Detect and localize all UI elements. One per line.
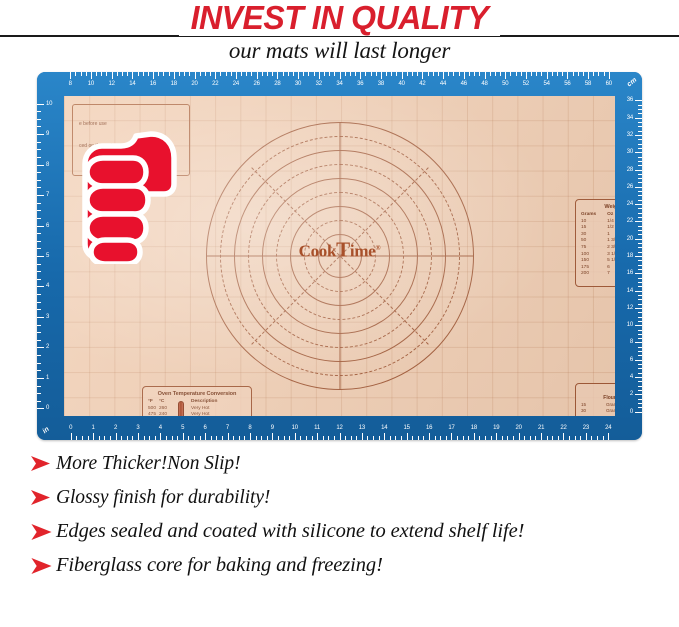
ruler-minor-tick <box>597 436 598 440</box>
ruler-tick <box>635 273 642 274</box>
table-row: 752 3/4 <box>581 245 615 252</box>
ruler-minor-tick <box>638 381 642 382</box>
ruler-minor-tick <box>573 72 574 76</box>
ruler-label: 15 <box>404 425 410 431</box>
ruler-minor-tick <box>638 407 642 408</box>
ruler-minor-tick <box>485 436 486 440</box>
feature-text: Edges sealed and coated with silicone to… <box>56 520 524 543</box>
logo-text-ime: ime <box>350 242 376 261</box>
ruler-label: 8 <box>248 425 251 431</box>
ruler-tick <box>608 433 609 440</box>
ruler-minor-tick <box>155 436 156 440</box>
table-row: 1505 1/2 <box>581 258 615 265</box>
ruler-minor-tick <box>638 247 642 248</box>
ruler-tick <box>70 72 71 79</box>
wc-grams: 150 <box>581 258 607 265</box>
ruler-minor-tick <box>37 149 41 150</box>
ruler-minor-tick <box>356 436 357 440</box>
ruler-minor-tick <box>306 436 307 440</box>
ruler-minor-tick <box>334 436 335 440</box>
ruler-minor-tick <box>536 72 537 76</box>
ruler-minor-tick <box>407 72 408 76</box>
ruler-label: 30 <box>627 149 633 155</box>
ruler-minor-tick <box>638 243 642 244</box>
ruler-label: 20 <box>516 425 522 431</box>
ruler-minor-tick <box>638 260 642 261</box>
ruler-minor-tick <box>371 72 372 76</box>
ruler-label: 21 <box>538 425 544 431</box>
ruler-minor-tick <box>37 111 41 112</box>
ruler-minor-tick <box>293 72 294 76</box>
ruler-minor-tick <box>530 436 531 440</box>
ruler-label: 40 <box>399 81 405 87</box>
ruler-minor-tick <box>184 72 185 76</box>
ruler-minor-tick <box>37 119 41 120</box>
ruler-tick <box>496 433 497 440</box>
ruler-label: 4 <box>46 283 49 289</box>
ruler-minor-tick <box>638 399 642 400</box>
ruler-minor-tick <box>37 332 41 333</box>
ruler-label: 12 <box>109 81 115 87</box>
ruler-minor-tick <box>479 436 480 440</box>
ruler-minor-tick <box>345 72 346 76</box>
ruler-minor-tick <box>453 72 454 76</box>
ruler-minor-tick <box>169 72 170 76</box>
ruler-minor-tick <box>638 230 642 231</box>
ruler-minor-tick <box>583 72 584 76</box>
ruler-label: 6 <box>630 357 633 363</box>
ruler-minor-tick <box>638 109 642 110</box>
ruler-tick <box>635 187 642 188</box>
ruler-label: 7 <box>226 425 229 431</box>
ruler-minor-tick <box>638 252 642 253</box>
ruler-minor-tick <box>457 436 458 440</box>
feature-item: Glossy finish for durability! <box>30 486 670 509</box>
ruler-minor-tick <box>435 436 436 440</box>
ot-header-f: °F <box>148 399 159 406</box>
ruler-tick <box>407 433 408 440</box>
ruler-tick <box>37 256 44 257</box>
ruler-minor-tick <box>521 72 522 76</box>
ruler-minor-tick <box>88 436 89 440</box>
ruler-minor-tick <box>37 126 41 127</box>
ruler-minor-tick <box>251 72 252 76</box>
ruler-tick <box>635 239 642 240</box>
cup-unit: Gram <box>606 415 615 416</box>
thumbs-up-icon <box>77 128 205 264</box>
ruler-minor-tick <box>510 72 511 76</box>
ruler-minor-tick <box>231 72 232 76</box>
ruler-tick <box>236 72 237 79</box>
ruler-minor-tick <box>37 187 41 188</box>
ruler-minor-tick <box>143 72 144 76</box>
ruler-minor-tick <box>267 436 268 440</box>
ruler-tick <box>519 433 520 440</box>
cups-section-1-title: Flour and Icing Sugar <box>581 395 615 401</box>
ruler-minor-tick <box>638 200 642 201</box>
ruler-minor-tick <box>638 157 642 158</box>
header: INVEST IN QUALITY our mats will last lon… <box>0 0 679 70</box>
ruler-minor-tick <box>37 279 41 280</box>
ruler-minor-tick <box>638 139 642 140</box>
ruler-minor-tick <box>82 436 83 440</box>
ruler-minor-tick <box>233 436 234 440</box>
ruler-tick <box>195 72 196 79</box>
ruler-tick <box>567 72 568 79</box>
ruler-tick <box>586 433 587 440</box>
ruler-minor-tick <box>376 72 377 76</box>
ruler-tick <box>37 134 44 135</box>
ruler-minor-tick <box>220 72 221 76</box>
ruler-minor-tick <box>37 142 41 143</box>
ruler-label: 4 <box>630 374 633 380</box>
ruler-minor-tick <box>288 72 289 76</box>
ruler-tick <box>340 72 341 79</box>
ruler-minor-tick <box>37 203 41 204</box>
ruler-minor-tick <box>148 72 149 76</box>
ruler-minor-tick <box>638 351 642 352</box>
ruler-tick <box>526 72 527 79</box>
ruler-minor-tick <box>638 286 642 287</box>
ruler-minor-tick <box>226 72 227 76</box>
ruler-minor-tick <box>578 72 579 76</box>
ruler-tick <box>635 377 642 378</box>
ruler-minor-tick <box>345 436 346 440</box>
ruler-label: 32 <box>316 81 322 87</box>
ruler-label: 26 <box>254 81 260 87</box>
ruler-label: 7 <box>46 192 49 198</box>
ruler-minor-tick <box>110 436 111 440</box>
ruler-minor-tick <box>558 436 559 440</box>
ruler-minor-tick <box>37 218 41 219</box>
ruler-tick <box>635 118 642 119</box>
ruler-tick <box>384 433 385 440</box>
ruler-tick <box>635 360 642 361</box>
ruler-tick <box>635 342 642 343</box>
ruler-tick <box>635 325 642 326</box>
ruler-label: 60 <box>606 81 612 87</box>
wc-header-grams-l: Grams <box>581 212 607 219</box>
ruler-minor-tick <box>37 340 41 341</box>
ruler-minor-tick <box>283 72 284 76</box>
ruler-minor-tick <box>638 226 642 227</box>
unit-label-bottom-left: in <box>42 426 51 435</box>
ruler-minor-tick <box>37 393 41 394</box>
ruler-minor-tick <box>37 210 41 211</box>
ruler-label: 20 <box>191 81 197 87</box>
ruler-tick <box>609 72 610 79</box>
ruler-minor-tick <box>241 72 242 76</box>
ruler-minor-tick <box>37 248 41 249</box>
ruler-minor-tick <box>401 436 402 440</box>
ruler-label: 2 <box>46 344 49 350</box>
ruler-minor-tick <box>166 436 167 440</box>
ruler-minor-tick <box>638 182 642 183</box>
ruler-minor-tick <box>324 72 325 76</box>
ruler-minor-tick <box>244 436 245 440</box>
ruler-label: 8 <box>46 162 49 168</box>
ruler-label: 16 <box>150 81 156 87</box>
ruler-label: 6 <box>46 223 49 229</box>
wc-grams: 15 <box>581 225 607 232</box>
ruler-minor-tick <box>76 436 77 440</box>
ruler-minor-tick <box>106 72 107 76</box>
ruler-minor-tick <box>638 403 642 404</box>
ruler-label: 52 <box>523 81 529 87</box>
cup-unit: Gram <box>606 408 615 414</box>
ruler-minor-tick <box>158 72 159 76</box>
ruler-tick <box>37 286 44 287</box>
ruler-label: 14 <box>627 288 633 294</box>
ruler-label: 42 <box>419 81 425 87</box>
ruler-minor-tick <box>386 72 387 76</box>
ruler-label: 19 <box>493 425 499 431</box>
ruler-tick <box>174 72 175 79</box>
ruler-tick <box>547 72 548 79</box>
ruler-label: 5 <box>46 253 49 259</box>
ruler-minor-tick <box>638 148 642 149</box>
wc-grams: 50 <box>581 238 607 245</box>
ruler-minor-tick <box>373 436 374 440</box>
ruler-minor-tick <box>37 180 41 181</box>
ruler-minor-tick <box>638 113 642 114</box>
ruler-minor-tick <box>37 264 41 265</box>
ruler-minor-tick <box>355 72 356 76</box>
ruler-label: 23 <box>583 425 589 431</box>
ruler-minor-tick <box>37 241 41 242</box>
ruler-minor-tick <box>524 436 525 440</box>
wc-header-oz-l: Oz <box>607 212 615 219</box>
ruler-tick <box>635 204 642 205</box>
arrow-right-icon <box>30 455 56 472</box>
ruler-tick <box>37 347 44 348</box>
ruler-minor-tick <box>638 390 642 391</box>
ruler-label: 1 <box>46 375 49 381</box>
ruler-tick <box>317 433 318 440</box>
ruler-label: 18 <box>471 425 477 431</box>
ruler-tick <box>272 433 273 440</box>
wc-oz: 1 3/4 <box>607 238 615 245</box>
ruler-tick <box>635 394 642 395</box>
ruler-minor-tick <box>440 436 441 440</box>
ruler-tick <box>37 226 44 227</box>
ruler-tick <box>588 72 589 79</box>
ruler-label: 10 <box>46 101 52 107</box>
ruler-minor-tick <box>569 436 570 440</box>
ruler-minor-tick <box>541 72 542 76</box>
ruler-minor-tick <box>127 72 128 76</box>
subheadline: our mats will last longer <box>219 37 460 64</box>
ruler-tick <box>360 72 361 79</box>
ruler-minor-tick <box>638 174 642 175</box>
ruler-minor-tick <box>365 72 366 76</box>
ruler-label: 28 <box>627 167 633 173</box>
ruler-tick <box>160 433 161 440</box>
ruler-minor-tick <box>638 386 642 387</box>
ruler-minor-tick <box>300 436 301 440</box>
ot-header-c: °C <box>159 399 170 406</box>
ruler-minor-tick <box>474 72 475 76</box>
ruler-minor-tick <box>200 72 201 76</box>
ruler-minor-tick <box>284 436 285 440</box>
ruler-tick <box>37 378 44 379</box>
ruler-label: 22 <box>560 425 566 431</box>
ruler-minor-tick <box>351 436 352 440</box>
ruler-minor-tick <box>267 72 268 76</box>
ruler-tick <box>215 72 216 79</box>
weight-conversion-title: Weight Conversion <box>581 204 615 210</box>
ruler-minor-tick <box>391 72 392 76</box>
ruler-minor-tick <box>638 299 642 300</box>
ruler-label: 12 <box>627 305 633 311</box>
arrow-right-icon <box>30 523 56 541</box>
ruler-minor-tick <box>132 436 133 440</box>
ruler-minor-tick <box>638 161 642 162</box>
ruler-minor-tick <box>303 72 304 76</box>
ruler-minor-tick <box>210 72 211 76</box>
cups-us-table: CUPS(US) Flour and Icing Sugar 15Gram=1/… <box>575 383 615 416</box>
ruler-minor-tick <box>438 72 439 76</box>
ruler-label: 48 <box>481 81 487 87</box>
ruler-minor-tick <box>246 72 247 76</box>
ruler-label: 34 <box>627 115 633 121</box>
ruler-minor-tick <box>37 271 41 272</box>
ruler-label: 30 <box>295 81 301 87</box>
ruler-minor-tick <box>262 72 263 76</box>
ruler-tick <box>563 433 564 440</box>
ruler-label: 17 <box>448 425 454 431</box>
ruler-minor-tick <box>144 436 145 440</box>
ruler-label: 9 <box>46 131 49 137</box>
ruler-minor-tick <box>96 72 97 76</box>
ruler-minor-tick <box>289 436 290 440</box>
ruler-tick <box>37 317 44 318</box>
ruler-minor-tick <box>200 436 201 440</box>
ruler-minor-tick <box>37 401 41 402</box>
feature-text: More Thicker!Non Slip! <box>56 452 240 475</box>
oven-temp-descriptions: Description Very HotVery Hot—Hot—Moderat… <box>191 399 246 416</box>
ruler-tick <box>474 433 475 440</box>
ruler-minor-tick <box>516 72 517 76</box>
ruler-minor-tick <box>604 72 605 76</box>
wc-oz: 7 <box>607 271 615 278</box>
ruler-tick <box>422 72 423 79</box>
ruler-minor-tick <box>598 72 599 76</box>
ruler-minor-tick <box>552 72 553 76</box>
ruler-tick <box>277 72 278 79</box>
ruler-minor-tick <box>638 131 642 132</box>
ruler-tick <box>635 291 642 292</box>
ruler-tick <box>402 72 403 79</box>
ruler-minor-tick <box>638 234 642 235</box>
ruler-minor-tick <box>638 338 642 339</box>
feature-item: More Thicker!Non Slip! <box>30 452 670 475</box>
ruler-label: 2 <box>630 391 633 397</box>
ruler-minor-tick <box>117 72 118 76</box>
ruler-minor-tick <box>638 334 642 335</box>
ot-description: Very Hot <box>191 412 246 416</box>
ruler-label: 2 <box>114 425 117 431</box>
ruler-minor-tick <box>334 72 335 76</box>
ruler-minor-tick <box>638 278 642 279</box>
ruler-minor-tick <box>428 72 429 76</box>
ruler-tick <box>635 152 642 153</box>
wc-oz: 2 3/4 <box>607 245 615 252</box>
ruler-label: 36 <box>357 81 363 87</box>
ruler-minor-tick <box>638 317 642 318</box>
ruler-tick <box>635 256 642 257</box>
ruler-minor-tick <box>37 325 41 326</box>
ruler-minor-tick <box>205 72 206 76</box>
ruler-minor-tick <box>638 269 642 270</box>
ruler-label: 6 <box>204 425 207 431</box>
ruler-minor-tick <box>37 386 41 387</box>
ruler-tick <box>37 165 44 166</box>
ruler-minor-tick <box>638 105 642 106</box>
ruler-minor-tick <box>81 72 82 76</box>
ruler-minor-tick <box>104 436 105 440</box>
ruler-minor-tick <box>479 72 480 76</box>
ruler-minor-tick <box>507 436 508 440</box>
ruler-label: 32 <box>627 132 633 138</box>
ruler-label: 4 <box>159 425 162 431</box>
ruler-label: 24 <box>627 201 633 207</box>
ot-f: 475 <box>148 412 159 416</box>
ruler-minor-tick <box>379 436 380 440</box>
ruler-minor-tick <box>459 72 460 76</box>
ruler-minor-tick <box>256 436 257 440</box>
cups-us-title: CUPS(US) <box>581 387 615 393</box>
ruler-minor-tick <box>531 72 532 76</box>
ruler-tick <box>464 72 465 79</box>
ruler-minor-tick <box>552 436 553 440</box>
feature-item: Edges sealed and coated with silicone to… <box>30 520 670 543</box>
ruler-bottom-inch: 0123456789101112131415161718192021222324 <box>64 416 615 440</box>
ruler-label: 18 <box>627 253 633 259</box>
wc-grams: 200 <box>581 271 607 278</box>
ruler-minor-tick <box>323 436 324 440</box>
ruler-tick <box>635 135 642 136</box>
ruler-label: 14 <box>381 425 387 431</box>
ruler-tick <box>228 433 229 440</box>
ruler-minor-tick <box>562 72 563 76</box>
ruler-minor-tick <box>593 72 594 76</box>
ruler-minor-tick <box>127 436 128 440</box>
ruler-minor-tick <box>638 295 642 296</box>
ruler-label: 26 <box>627 184 633 190</box>
ruler-minor-tick <box>638 321 642 322</box>
ruler-label: 16 <box>426 425 432 431</box>
logo-text-t: T <box>336 238 350 262</box>
table-row: Very Hot <box>191 412 246 416</box>
ruler-tick <box>37 195 44 196</box>
arrow-right-icon <box>30 557 56 575</box>
ruler-minor-tick <box>638 217 642 218</box>
wc-oz: 1/2 <box>607 225 615 232</box>
ruler-tick <box>381 72 382 79</box>
ruler-label: 10 <box>627 322 633 328</box>
ruler-minor-tick <box>557 72 558 76</box>
ruler-minor-tick <box>638 330 642 331</box>
ruler-minor-tick <box>138 72 139 76</box>
ruler-minor-tick <box>638 347 642 348</box>
ruler-tick <box>183 433 184 440</box>
wc-oz: 5 1/2 <box>607 258 615 265</box>
ruler-minor-tick <box>469 72 470 76</box>
ruler-minor-tick <box>513 436 514 440</box>
ruler-minor-tick <box>638 373 642 374</box>
ruler-top-cm: 8101214161820222426283032343638404244464… <box>64 72 615 96</box>
